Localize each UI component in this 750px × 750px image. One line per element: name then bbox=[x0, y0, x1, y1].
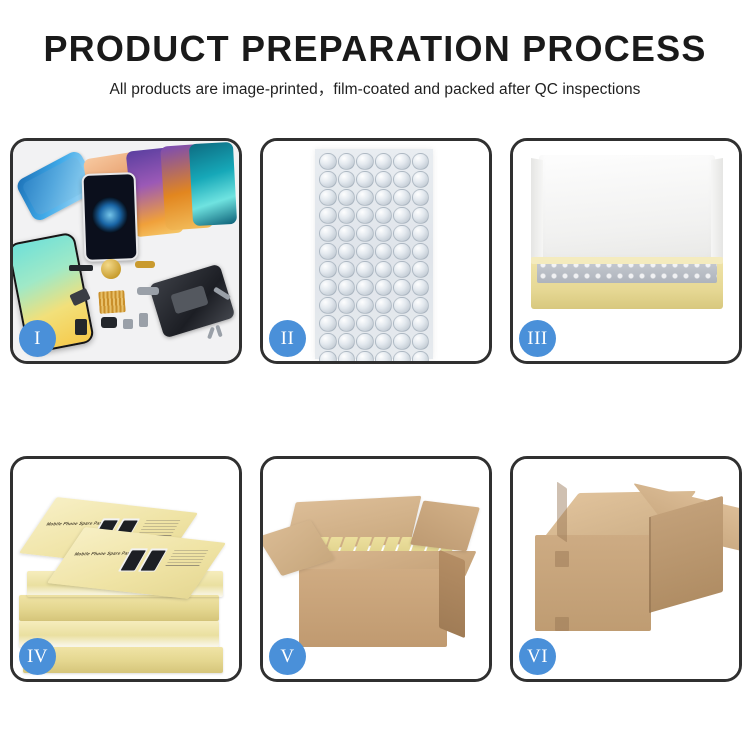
carton-label-patch-1 bbox=[555, 551, 569, 567]
part-small-2 bbox=[139, 313, 148, 327]
step-2-image: II bbox=[263, 141, 489, 361]
mailer-box-lid bbox=[539, 155, 715, 267]
step-badge-5: V bbox=[269, 638, 306, 675]
part-flex-2 bbox=[137, 287, 159, 295]
carton-label-patch-2 bbox=[555, 617, 569, 631]
retail-box-stack: Mobile Phone Spare Parts Mobile Phone Sp… bbox=[19, 475, 237, 671]
process-step-4: Mobile Phone Spare Parts Mobile Phone Sp… bbox=[10, 456, 242, 682]
step-4-image: Mobile Phone Spare Parts Mobile Phone Sp… bbox=[13, 459, 239, 679]
part-flex-1 bbox=[135, 261, 155, 268]
part-connector bbox=[75, 319, 87, 335]
step-badge-2: II bbox=[269, 320, 306, 357]
process-step-grid: I bbox=[10, 138, 740, 682]
header: PRODUCT PREPARATION PROCESS All products… bbox=[0, 0, 750, 99]
carton-edge-seam bbox=[649, 517, 651, 613]
step-badge-4: IV bbox=[19, 638, 56, 675]
bubble-grid bbox=[319, 153, 429, 355]
sealed-carton-side bbox=[649, 496, 723, 613]
circuit-chip-part bbox=[98, 290, 125, 314]
step-5-image: V bbox=[263, 459, 489, 679]
carton-right-flap bbox=[410, 501, 480, 552]
part-camera bbox=[101, 317, 117, 328]
step-3-image: III bbox=[513, 141, 739, 361]
phone-back-housing bbox=[148, 263, 235, 338]
part-strip-1 bbox=[69, 265, 93, 271]
page-title: PRODUCT PREPARATION PROCESS bbox=[0, 30, 750, 68]
process-step-1: I bbox=[10, 138, 242, 364]
process-step-5: V bbox=[260, 456, 492, 682]
carton-front-face bbox=[299, 569, 447, 647]
step-6-image: VI bbox=[513, 459, 739, 679]
step-badge-3: III bbox=[519, 320, 556, 357]
carton-side-face bbox=[439, 550, 465, 639]
screw-2 bbox=[215, 325, 223, 338]
sealed-carton-front bbox=[535, 535, 651, 631]
step-badge-1: I bbox=[19, 320, 56, 357]
step-1-image: I bbox=[13, 141, 239, 361]
page-subtitle: All products are image-printed，film-coat… bbox=[0, 77, 750, 99]
screw-1 bbox=[207, 327, 215, 340]
mailer-box-lip bbox=[531, 257, 723, 264]
phone-thumb-e bbox=[189, 142, 237, 226]
step-badge-6: VI bbox=[519, 638, 556, 675]
carton-tape-seam bbox=[557, 482, 567, 543]
process-step-6: VI bbox=[510, 456, 742, 682]
phone-front-glass bbox=[81, 172, 138, 262]
product-preparation-infographic: PRODUCT PREPARATION PROCESS All products… bbox=[0, 0, 750, 750]
part-small-1 bbox=[123, 319, 133, 329]
process-step-3: III bbox=[510, 138, 742, 364]
bubble-wrap-sheet bbox=[315, 149, 433, 359]
process-step-2: II bbox=[260, 138, 492, 364]
speaker-part bbox=[101, 259, 121, 279]
